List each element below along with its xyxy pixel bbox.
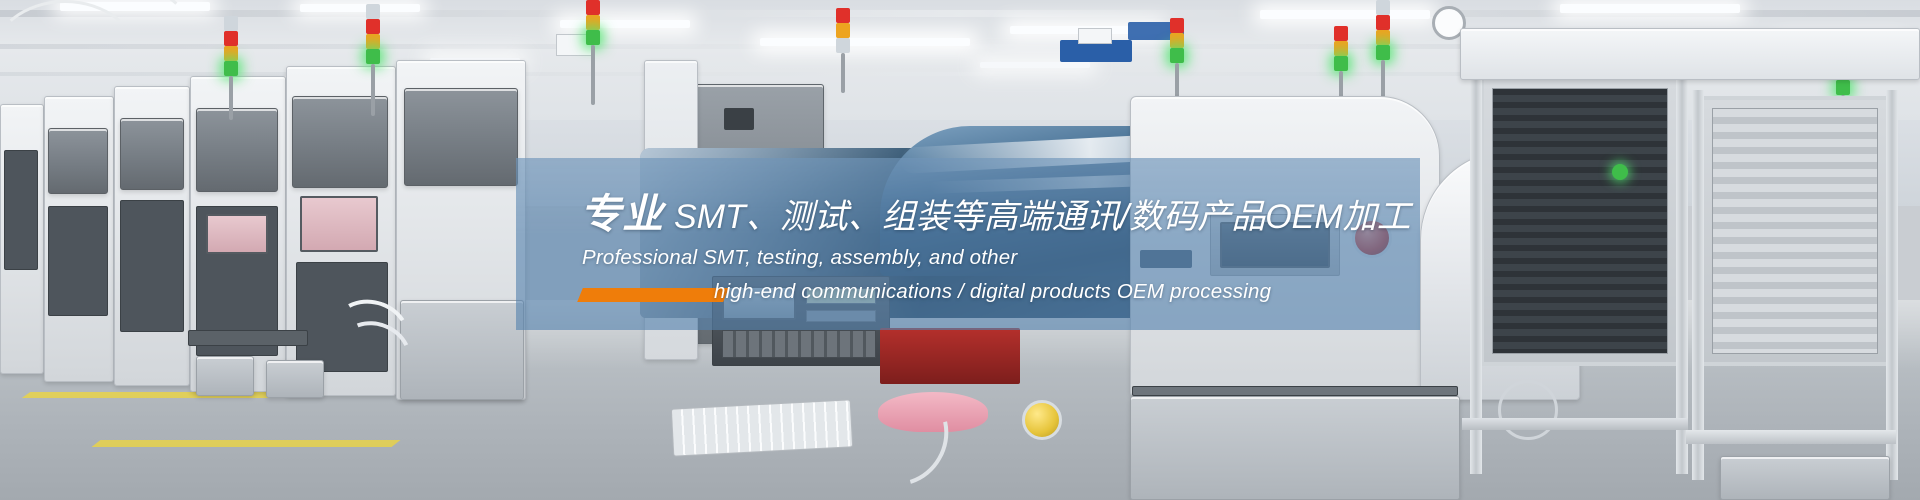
ceiling-light bbox=[1560, 4, 1740, 13]
subtitle-line-1: Professional SMT, testing, assembly, and… bbox=[582, 246, 1017, 270]
wall-cabinet bbox=[1460, 28, 1920, 80]
ceiling-light bbox=[760, 38, 970, 46]
machine-display bbox=[206, 214, 268, 254]
rack-bottom-rail bbox=[1686, 430, 1896, 444]
machine-port bbox=[1498, 380, 1558, 440]
stack-light bbox=[586, 0, 600, 105]
floor-marking bbox=[92, 440, 401, 447]
machine-module bbox=[120, 118, 184, 190]
emergency-stop-button[interactable] bbox=[1022, 400, 1062, 440]
machine-panel bbox=[120, 200, 184, 332]
hanging-sign bbox=[1078, 28, 1112, 44]
rack-shelves bbox=[1492, 88, 1668, 354]
rack-bottom-rail bbox=[1462, 418, 1688, 430]
cabinet-vent bbox=[724, 108, 754, 130]
hmi-keypad bbox=[722, 330, 876, 358]
rack-status-light bbox=[1612, 164, 1628, 180]
subtitle-line-2: high-end communications / digital produc… bbox=[714, 280, 1271, 304]
ceiling-light bbox=[1260, 10, 1430, 19]
machine-base bbox=[1130, 396, 1460, 500]
storage-rack bbox=[1480, 76, 1680, 366]
machine-red-housing bbox=[880, 328, 1020, 384]
hero-text-overlay: 专业SMT、测试、组装等高端通讯/数码产品OEM加工 Professional … bbox=[516, 158, 1420, 330]
ceiling-light bbox=[980, 62, 1090, 68]
headline-rest: SMT、测试、组装等高端通讯/数码产品OEM加工 bbox=[674, 198, 1411, 236]
keyboard bbox=[671, 399, 853, 456]
headline: 专业SMT、测试、组装等高端通讯/数码产品OEM加工 bbox=[580, 180, 1411, 240]
rack-post bbox=[1676, 74, 1688, 474]
feeder-cart bbox=[196, 356, 254, 396]
storage-rack bbox=[1700, 96, 1890, 366]
machine-panel bbox=[48, 206, 108, 316]
machine-module bbox=[196, 108, 278, 192]
machine-module bbox=[404, 88, 518, 186]
machine-base bbox=[400, 300, 524, 400]
machine-trim bbox=[1132, 386, 1458, 396]
ceiling-light bbox=[560, 20, 690, 28]
stack-light bbox=[366, 4, 380, 116]
material-cart bbox=[1720, 456, 1890, 500]
machine-display bbox=[300, 196, 378, 252]
stack-light bbox=[224, 16, 238, 120]
rack-shelves bbox=[1712, 108, 1878, 354]
rack-post bbox=[1470, 74, 1482, 474]
headline-strong: 专业 bbox=[580, 191, 664, 237]
rack-post bbox=[1886, 90, 1898, 480]
rack-post bbox=[1692, 90, 1704, 480]
ceiling-light bbox=[300, 4, 420, 12]
feeder-cart bbox=[266, 360, 324, 398]
machine-panel bbox=[4, 150, 38, 270]
machine-module bbox=[48, 128, 108, 194]
accent-bar bbox=[577, 288, 729, 302]
conveyor-rail bbox=[188, 330, 308, 346]
stack-light bbox=[836, 8, 850, 93]
hero-banner: 专业SMT、测试、组装等高端通讯/数码产品OEM加工 Professional … bbox=[0, 0, 1920, 500]
